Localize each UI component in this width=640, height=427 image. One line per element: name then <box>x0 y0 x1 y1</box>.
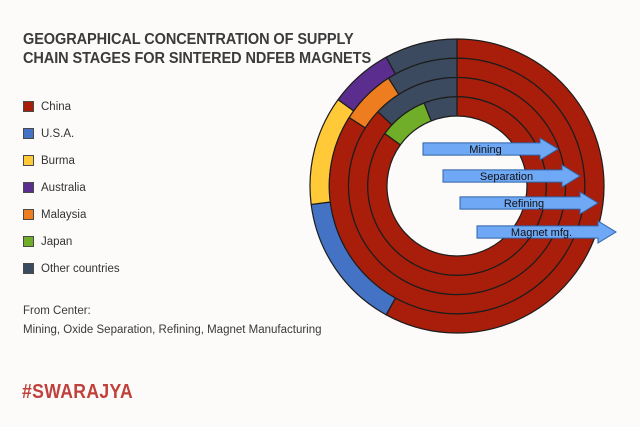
callout-label-magnet-mfg: Magnet mfg. <box>511 227 572 239</box>
callout-label-separation: Separation <box>480 171 533 183</box>
callout-arrows: MiningSeparationRefiningMagnet mfg. <box>0 0 640 427</box>
callout-label-refining: Refining <box>504 198 544 210</box>
callout-label-mining: Mining <box>469 144 501 156</box>
infographic-canvas: GEOGRAPHICAL CONCENTRATION OF SUPPLY CHA… <box>0 0 640 427</box>
